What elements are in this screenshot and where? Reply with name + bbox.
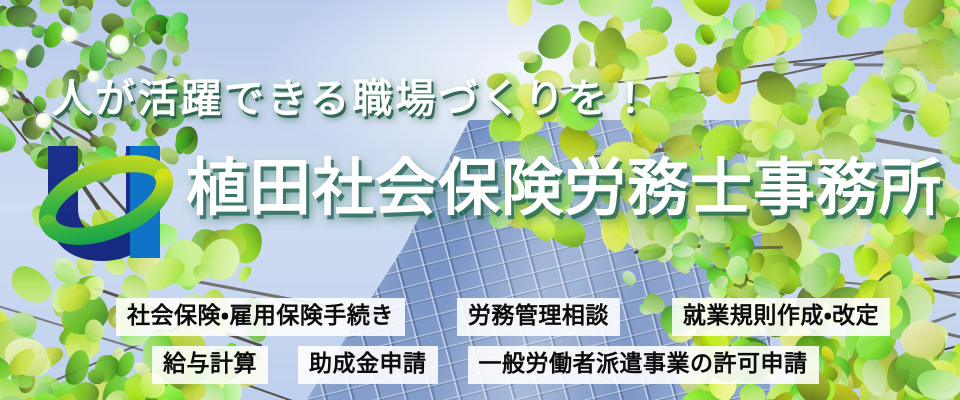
leaf [770,54,793,77]
leaf [876,59,924,109]
leaf [861,98,900,136]
leaf [917,95,956,134]
leaf [925,36,957,72]
leaf [698,24,716,46]
flower [36,113,51,128]
leaf [184,223,229,268]
leaf [28,386,66,400]
leaf [127,0,154,21]
leaf [664,70,689,93]
leaf [943,385,960,400]
leaf [865,71,886,91]
leaf [61,0,79,8]
leaf [948,186,960,230]
flower [62,27,77,42]
leaf [771,266,792,298]
leaf [201,226,248,265]
leaf [864,385,904,400]
leaf [939,121,960,161]
leaf [530,0,567,8]
leaf [672,68,705,101]
leaf [924,227,960,268]
leaf [36,388,85,400]
leaf [144,17,163,35]
leaf [949,0,960,12]
leaf [0,45,21,73]
leaf [799,246,847,302]
leaf [935,26,960,85]
leaf [839,110,872,142]
service-tag-row-1: 社会保険・雇用保険手続き 労務管理相談 就業規則作成・改定 [0,298,960,336]
leaf [0,85,12,109]
leaf [936,95,960,138]
leaf [856,77,894,124]
leaf [815,266,839,285]
leaf [770,126,797,150]
leaf [928,64,960,113]
leaf [942,193,960,218]
leaf [916,7,955,49]
leaf [751,64,802,113]
leaf [910,218,960,265]
leaf [922,232,950,256]
leaf [768,0,785,3]
service-tag-row-2: 給与計算 助成金申請 一般労働者派遣事業の許可申請 [0,346,960,384]
leaf [770,31,795,54]
leaf [0,4,10,27]
leaf [22,42,49,72]
leaf [927,8,947,29]
leaf [786,112,832,156]
leaf [943,391,960,400]
leaf [768,100,826,158]
leaf [65,2,96,37]
leaf [875,53,906,87]
leaf [895,76,914,97]
leaf [796,102,815,117]
leaf [766,258,803,299]
leaf [860,382,883,399]
leaf [0,79,15,105]
leaf [794,259,834,299]
leaf [781,109,799,123]
leaf [90,49,102,59]
leaf [890,269,928,302]
leaf [62,0,77,7]
leaf [110,0,136,11]
leaf [162,27,193,59]
leaf [11,70,27,92]
leaf [0,388,2,400]
leaf [36,0,64,18]
leaf [864,0,895,31]
leaf [716,32,764,74]
flower [0,87,9,106]
leaf [892,74,917,97]
leaf [858,95,905,134]
service-tag: 就業規則作成・改定 [672,298,890,336]
leaf [716,45,756,72]
leaf [594,30,627,63]
service-tag: 一般労働者派遣事業の許可申請 [468,346,819,384]
leaf [750,0,769,3]
leaf [598,0,661,28]
leaf [947,203,960,235]
leaf [713,64,741,96]
service-tag: 社会保険・雇用保険手続き [116,298,405,336]
tree-branch [793,63,960,67]
leaf [890,253,914,290]
leaf [11,11,29,29]
leaf [944,195,960,247]
leaf [21,102,35,117]
leaf [818,123,847,154]
leaf [870,261,918,302]
leaf [578,0,623,19]
leaf [941,122,960,170]
leaf [927,0,960,17]
leaf [789,391,814,400]
leaf [762,22,802,53]
leaf [176,268,200,293]
leaf [145,383,189,400]
leaf [914,20,938,46]
leaf [784,80,819,124]
leaf [697,66,720,97]
leaf [101,23,135,56]
leaf [766,0,786,22]
leaf [778,97,812,130]
leaf [821,60,849,86]
leaf [832,10,865,43]
leaf [112,25,136,50]
leaf [0,390,39,400]
leaf [147,28,165,47]
service-tag-group: 社会保険・雇用保険手続き 労務管理相談 就業規則作成・改定 給与計算 助成金申請… [0,298,960,384]
leaf [724,21,765,70]
leaf [755,38,787,59]
leaf [668,98,688,113]
leaf [805,81,829,100]
leaf [12,0,35,9]
leaf [674,0,729,35]
leaf [36,384,73,400]
flower [16,49,27,60]
leaf [804,391,830,400]
leaf [829,59,856,77]
leaf [772,101,828,159]
site-hero-banner: 人が活躍できる職場づくりを！ [0,0,960,400]
leaf [0,4,22,30]
leaf [132,29,153,49]
leaf [841,90,880,135]
page-title: 植田社会保険労務士事務所 [186,158,942,220]
leaf [157,14,172,29]
leaf [55,389,78,400]
leaf [785,264,811,289]
leaf [117,381,157,400]
leaf [755,4,805,44]
leaf [16,394,41,400]
leaf [4,3,38,30]
leaf [172,25,191,45]
company-logo [26,132,186,264]
leaf [0,59,26,87]
leaf [160,8,191,39]
leaf [849,397,869,400]
leaf [816,107,853,138]
tree-branch [790,88,960,149]
leaf [911,95,953,135]
leaf [108,386,123,400]
leaf [636,4,676,40]
leaf [215,395,235,400]
leaf [142,394,164,400]
leaf [134,3,157,28]
leaf [896,0,951,33]
leaf [893,63,931,107]
leaf [159,394,187,400]
leaf [711,55,740,104]
leaf [751,16,770,39]
leaf [728,0,762,35]
leaf [919,90,951,138]
hero-tagline: 人が活躍できる職場づくりを！ [52,66,653,124]
leaf [74,273,101,293]
leaf [185,393,199,400]
leaf [0,0,1,27]
leaf [0,85,17,111]
leaf [871,220,905,254]
leaf [737,21,781,67]
leaf [888,387,948,400]
leaf [0,67,16,91]
leaf [619,27,670,60]
leaf [822,111,845,131]
leaf [142,12,173,40]
leaf [235,264,253,283]
leaf [101,25,138,62]
leaf [139,388,175,400]
leaf [24,110,38,123]
leaf [532,19,578,65]
leaf [777,235,829,293]
leaf [706,73,730,97]
leaf [33,381,55,400]
service-tag: 給与計算 [152,346,268,384]
leaf [788,94,800,112]
leaf [83,0,96,6]
leaf [931,111,960,160]
leaf [0,133,14,156]
flower [110,35,129,54]
leaf [672,38,701,70]
leaf [950,0,960,9]
leaf [919,51,956,88]
leaf [869,221,897,251]
leaf [856,230,912,280]
leaf [503,0,536,29]
leaf [880,71,917,97]
leaf [113,15,142,36]
leaf [859,234,908,283]
leaf [816,80,852,121]
leaf [223,219,266,266]
leaf [664,81,709,119]
leaf [786,115,807,136]
leaf [691,20,722,51]
leaf [844,120,874,149]
service-tag: 助成金申請 [298,346,438,384]
tree-branch [671,19,960,99]
leaf [0,126,2,154]
leaf [849,243,883,280]
leaf [658,80,673,103]
leaf [932,19,957,45]
leaf [902,114,916,133]
leaf [102,388,131,400]
leaf [192,264,212,281]
leaf [876,219,923,265]
service-tag: 労務管理相談 [457,298,620,336]
leaf [137,13,171,43]
leaf [517,49,539,64]
leaf [852,244,876,276]
leaf [826,0,883,24]
leaf [2,0,40,12]
leaf [895,394,923,400]
leaf [0,117,21,155]
leaf [947,12,960,42]
leaf [99,393,153,400]
leaf [919,253,954,284]
leaf [56,4,78,28]
leaf [0,103,9,112]
leaf [52,260,76,285]
leaf [936,3,960,32]
leaf [30,22,48,40]
leaf [98,8,128,38]
leaf [910,33,960,88]
leaf [832,117,866,137]
tree-branch [884,270,960,283]
leaf [39,19,68,52]
leaf [825,106,884,161]
leaf [193,232,250,288]
leaf [869,0,904,14]
leaf [215,227,255,264]
leaf [706,12,737,44]
leaf [926,0,947,2]
leaf [938,0,960,26]
leaf [69,0,96,18]
leaf [0,94,31,125]
leaf [933,69,960,104]
leaf [825,0,854,19]
leaf [837,0,884,35]
leaf [749,20,793,62]
leaf [686,0,738,23]
leaf [32,95,48,114]
leaf [101,387,137,400]
leaf [879,26,937,78]
leaf [160,388,186,400]
leaf [778,0,820,32]
leaf [824,1,840,22]
leaf [574,17,606,49]
leaf [602,14,628,41]
